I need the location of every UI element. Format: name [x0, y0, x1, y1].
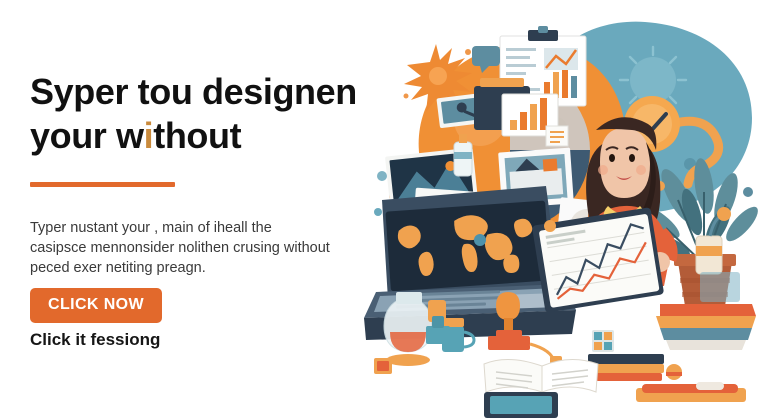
headline-line-2-part-b: thout: [153, 115, 241, 156]
decor-dot: [377, 171, 387, 181]
page-title: Syper tou designen your without: [30, 70, 370, 158]
small-box-inner: [377, 361, 389, 371]
open-book: [484, 359, 598, 392]
whiteboard-line-chart: [532, 207, 664, 313]
cta-subtext: Click it fessiong: [30, 330, 160, 350]
hero-illustration: [360, 0, 768, 419]
promo-banner: Syper tou designen your without Typer nu…: [0, 0, 768, 419]
desk-tablet: [484, 392, 558, 418]
small-books: [588, 354, 664, 381]
click-now-button[interactable]: CLICK NOW: [30, 288, 162, 323]
headline-accent-letter: i: [144, 115, 154, 156]
headline-line-2: your without: [30, 114, 370, 158]
pencil-cup: [666, 364, 682, 380]
decor-dot: [743, 187, 753, 197]
decor-dot: [374, 208, 382, 216]
body-paragraph: Typer nustant your , main of iheall the …: [30, 218, 330, 278]
copy-block: Syper tou designen your without: [30, 70, 370, 158]
stacked-books: [656, 304, 756, 350]
headline-line-2-part-a: your w: [30, 115, 144, 156]
headline-line-1: Syper tou designen: [30, 71, 357, 112]
pen-tray: [636, 382, 746, 402]
cube-icon: [592, 330, 614, 352]
accent-divider: [30, 182, 175, 187]
